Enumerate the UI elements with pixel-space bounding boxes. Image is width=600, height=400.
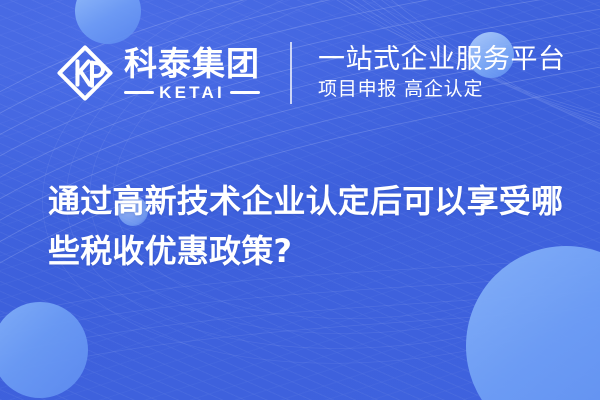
header-tagline: 一站式企业服务平台 项目申报 高企认定 xyxy=(318,45,566,100)
kp-monogram-diamond-icon xyxy=(56,44,114,102)
tagline-sub: 项目申报 高企认定 xyxy=(318,79,566,101)
logo-name-cn: 科泰集团 xyxy=(124,47,260,81)
header-divider xyxy=(290,42,292,104)
logo-name-en: KETAI xyxy=(159,84,225,101)
logo-wordmark: 科泰集团 KETAI xyxy=(124,45,260,101)
company-logo[interactable]: 科泰集团 KETAI xyxy=(56,44,260,102)
tagline-main: 一站式企业服务平台 xyxy=(318,45,566,75)
banner-header: 科泰集团 KETAI 一站式企业服务平台 项目申报 高企认定 xyxy=(56,42,566,104)
logo-rule-left-icon xyxy=(124,91,154,94)
logo-rule-right-icon xyxy=(230,91,260,94)
promo-banner: 科泰集团 KETAI 一站式企业服务平台 项目申报 高企认定 通过高新技术企业认… xyxy=(0,0,600,400)
logo-name-en-row: KETAI xyxy=(124,84,260,101)
page-title: 通过高新技术企业认定后可以享受哪些税收优惠政策? xyxy=(48,177,564,276)
